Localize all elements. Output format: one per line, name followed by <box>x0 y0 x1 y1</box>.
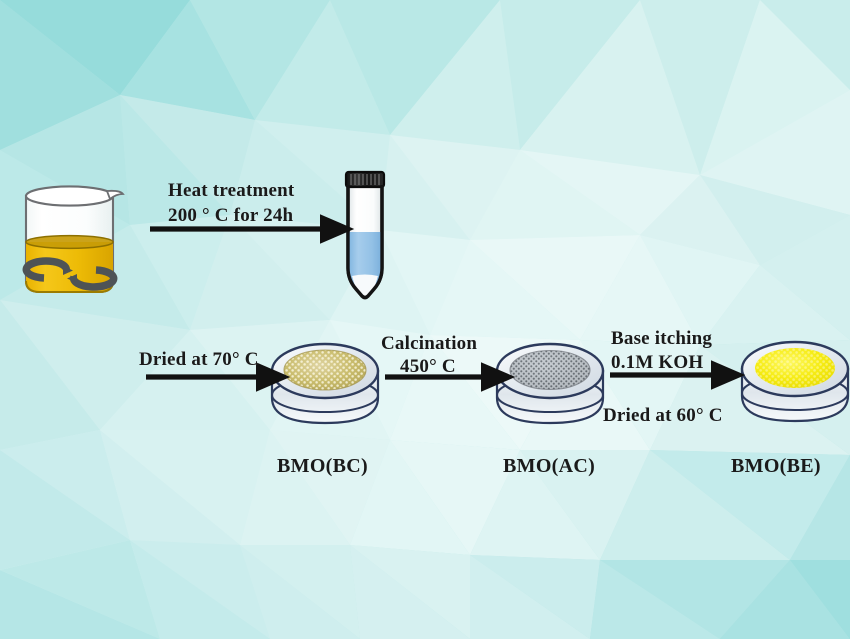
autoclave-tube <box>346 172 384 298</box>
step4-line1: Base itching <box>611 328 712 350</box>
beaker-spout <box>107 191 123 199</box>
caption-bmo-bc: BMO(BC) <box>277 455 368 478</box>
step4-line2: 0.1M KOH <box>611 352 703 374</box>
step4-line3: Dried at 60° C <box>603 405 723 427</box>
petri-dish-bmo-be <box>742 342 848 421</box>
step1-line2: 200 ° C for 24h <box>168 205 293 227</box>
petri-dish-bmo-ac <box>497 344 603 423</box>
beaker-with-yellow-solution <box>26 186 123 292</box>
caption-bmo-ac: BMO(AC) <box>503 455 595 478</box>
figure-canvas: Heat treatment 200 ° C for 24h Dried at … <box>0 0 850 639</box>
petri-dish-bmo-bc <box>272 344 378 423</box>
step2-line1: Dried at 70° C <box>139 349 259 371</box>
tube-cap <box>346 172 384 187</box>
diagram-objects <box>0 0 850 639</box>
step3-line1: Calcination <box>381 333 477 355</box>
caption-bmo-be: BMO(BE) <box>731 455 821 478</box>
step1-line1: Heat treatment <box>168 180 294 202</box>
step3-line2: 450° C <box>400 356 456 378</box>
